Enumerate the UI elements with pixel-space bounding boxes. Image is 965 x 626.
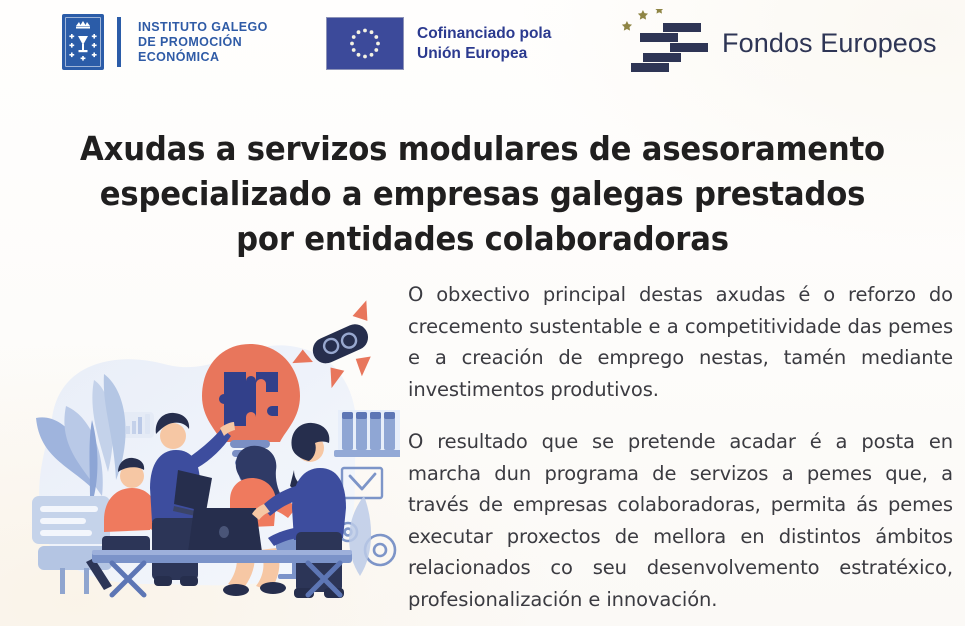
- fondos-europeos-text: Fondos Europeos: [722, 28, 937, 59]
- paragraph-2: O resultado que se pretende acadar é a p…: [408, 426, 953, 615]
- binder-shelf-icon: [334, 410, 400, 457]
- page-title: Axudas a servizos modulares de asesorame…: [71, 126, 894, 261]
- eu-flag-icon: [326, 17, 404, 70]
- eu-logo: Cofinanciado pola Unión Europea: [326, 17, 551, 70]
- igape-logo-text: INSTITUTO GALEGO DE PROMOCIÓN ECONÓMICA: [138, 20, 268, 65]
- poster-page: INSTITUTO GALEGO DE PROMOCIÓN ECONÓMICA: [0, 0, 965, 626]
- body-text-column: O obxectivo principal destas axudas é o …: [408, 279, 953, 615]
- laptop-on-desk-icon: [188, 508, 262, 552]
- fondos-europeos-mark-icon: [617, 9, 709, 77]
- logo-band: INSTITUTO GALEGO DE PROMOCIÓN ECONÓMICA: [0, 0, 965, 92]
- galicia-coat-of-arms-icon: [62, 14, 104, 70]
- logo-divider: [117, 17, 121, 67]
- fondos-europeos-logo: Fondos Europeos: [617, 9, 937, 77]
- igape-logo: INSTITUTO GALEGO DE PROMOCIÓN ECONÓMICA: [62, 14, 268, 70]
- paragraph-1: O obxectivo principal destas axudas é o …: [408, 279, 953, 405]
- eu-logo-text: Cofinanciado pola Unión Europea: [417, 24, 551, 64]
- team-collaboration-illustration: [8, 300, 400, 620]
